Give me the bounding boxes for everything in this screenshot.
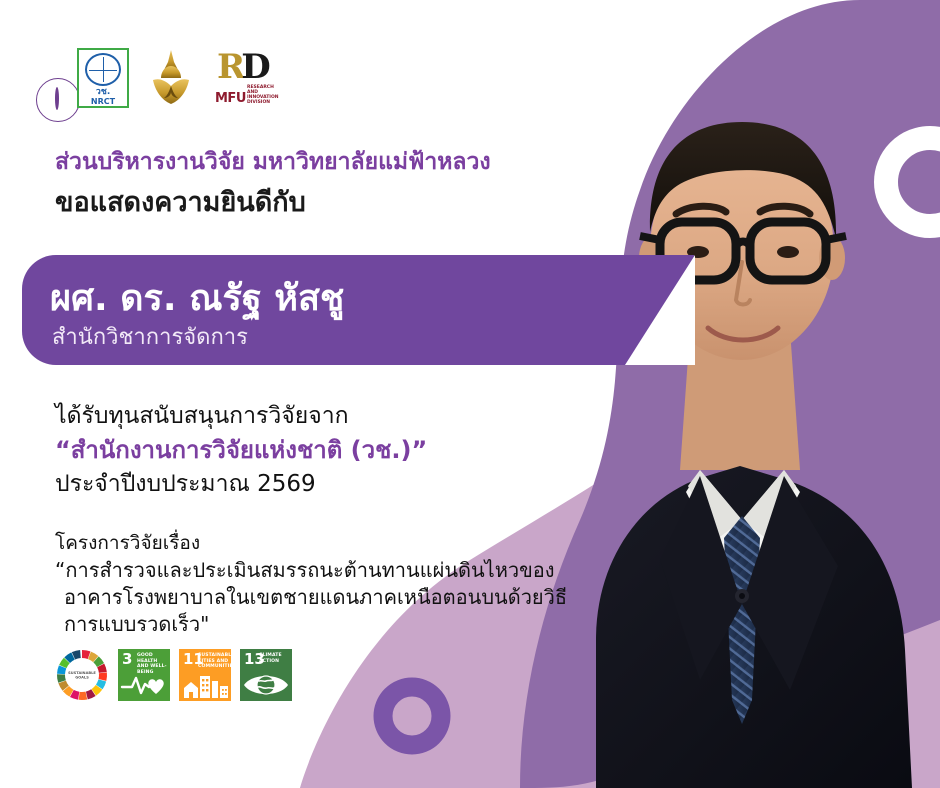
seal-icon: [55, 87, 59, 110]
sdg-goal-3: 3 GOOD HEALTH AND WELL-BEING: [118, 649, 170, 701]
organization-line: ส่วนบริหารงานวิจัย มหาวิทยาลัยแม่ฟ้าหลวง: [55, 144, 491, 180]
globe-icon: [85, 53, 121, 86]
city-buildings-icon: [179, 669, 231, 699]
funding-block: ได้รับทุนสนับสนุนการวิจัยจาก “สำนักงานกา…: [55, 400, 427, 501]
funding-fiscal-year: ประจำปีงบประมาณ 2569: [55, 467, 427, 501]
eye-globe-icon: [240, 669, 292, 699]
project-block: โครงการวิจัยเรื่อง “การสำรวจและประเมินสม…: [55, 530, 575, 638]
sdg-wheel-icon: SUSTAINABLE GOALS: [55, 648, 109, 702]
honoree-department: สำนักวิชาการจัดการ: [52, 319, 248, 354]
poster-canvas: วช. NRCT RD MFU: [0, 0, 940, 788]
mfu-research-logo: RD MFU RESEARCH AND INNOVATION DIVISION: [213, 48, 275, 108]
svg-text:GOALS: GOALS: [75, 676, 89, 680]
nrct-green-logo: วช. NRCT: [77, 48, 129, 108]
mfu-sub-label: RESEARCH AND INNOVATION DIVISION: [247, 85, 275, 105]
logo-row: วช. NRCT RD MFU: [55, 48, 275, 108]
mfu-wordmark: MFU: [215, 91, 246, 106]
nrct-seal-logo: [55, 89, 59, 108]
honoree-name: ผศ. ดร. ณรัฐ หัสชู: [50, 269, 344, 326]
sdg-goal-13: 13 CLIMATE ACTION: [240, 649, 292, 701]
rd-monogram: RD: [217, 50, 267, 84]
project-label: โครงการวิจัยเรื่อง: [55, 530, 575, 557]
sdg-goal-13-label: CLIMATE ACTION: [259, 653, 290, 664]
sdg-row: SUSTAINABLE GOALS 3 GOOD HEALTH AND WELL…: [55, 648, 292, 702]
royal-emblem-logo: [147, 48, 195, 108]
congratulation-line: ขอแสดงความยินดีกับ: [55, 180, 306, 223]
monogram-d: D: [241, 47, 266, 87]
funding-intro: ได้รับทุนสนับสนุนการวิจัยจาก: [55, 400, 427, 433]
nrct-eng-abbr: NRCT: [91, 97, 115, 106]
project-title-line-2: อาคารโรงพยาบาลในเขตชายแดนภาคเหนือตอนบนด้…: [55, 584, 575, 611]
project-title-line-1: “การสำรวจและประเมินสมรรถนะต้านทานแผ่นดิน…: [55, 557, 575, 584]
svg-text:SUSTAINABLE: SUSTAINABLE: [68, 671, 96, 675]
project-title-line-3: การแบบรวดเร็ว": [55, 611, 575, 638]
nrct-thai-abbr: วช.: [96, 87, 111, 97]
heartbeat-icon: [118, 669, 170, 699]
monogram-r: R: [217, 47, 241, 87]
sdg-goal-3-number: 3: [122, 652, 132, 667]
sdg-goal-11: 11 SUSTAINABLE CITIES AND COMMUNITIES: [179, 649, 231, 701]
funding-agency: “สำนักงานการวิจัยแห่งชาติ (วช.)”: [55, 433, 427, 467]
honoree-banner: ผศ. ดร. ณรัฐ หัสชู สำนักวิชาการจัดการ: [22, 255, 694, 365]
sdg-goal-11-label: SUSTAINABLE CITIES AND COMMUNITIES: [198, 653, 229, 670]
